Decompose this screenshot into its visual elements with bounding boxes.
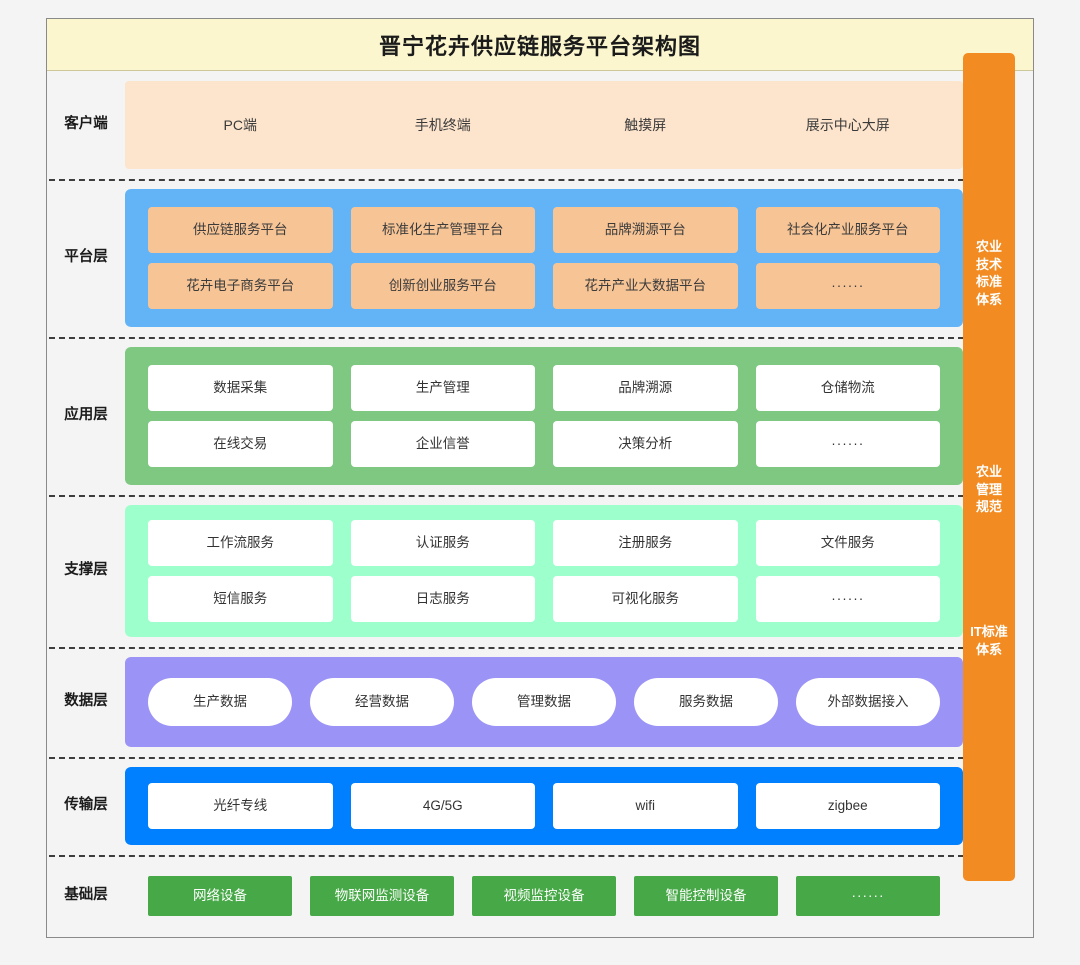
- layer-item-app-0-2[interactable]: 品牌溯源: [553, 365, 738, 411]
- layer-item-platform-1-2[interactable]: 花卉产业大数据平台: [553, 263, 738, 309]
- layer-item-data-0-1[interactable]: 经营数据: [310, 678, 454, 726]
- layer-panel-platform: 供应链服务平台标准化生产管理平台品牌溯源平台社会化产业服务平台花卉电子商务平台创…: [125, 189, 963, 327]
- layer-item-data-0-4[interactable]: 外部数据接入: [796, 678, 940, 726]
- page-title: 晋宁花卉供应链服务平台架构图: [379, 29, 701, 61]
- layer-item-transmit-0-0[interactable]: 光纤专线: [148, 783, 333, 829]
- layer-panel-transmit: 光纤专线4G/5Gwifizigbee: [125, 767, 963, 845]
- layer-label-app: 应用层: [47, 407, 125, 424]
- layer-row-platform: 平台层供应链服务平台标准化生产管理平台品牌溯源平台社会化产业服务平台花卉电子商务…: [47, 179, 1033, 337]
- layer-item-row: 供应链服务平台标准化生产管理平台品牌溯源平台社会化产业服务平台: [125, 207, 963, 253]
- layer-item-row: PC端手机终端触摸屏展示中心大屏: [125, 115, 963, 135]
- layer-item-row: 生产数据经营数据管理数据服务数据外部数据接入: [125, 678, 963, 726]
- layer-label-base: 基础层: [47, 887, 125, 904]
- layer-row-app: 应用层数据采集生产管理品牌溯源仓储物流在线交易企业信誉决策分析······: [47, 337, 1033, 495]
- layer-item-base-0-0[interactable]: 网络设备: [148, 876, 292, 916]
- layer-item-row: 工作流服务认证服务注册服务文件服务: [125, 520, 963, 566]
- layer-label-client: 客户端: [47, 116, 125, 133]
- layer-item-platform-1-0[interactable]: 花卉电子商务平台: [148, 263, 333, 309]
- diagram-canvas: 晋宁花卉供应链服务平台架构图 客户端PC端手机终端触摸屏展示中心大屏平台层供应链…: [0, 0, 1080, 965]
- layer-item-app-1-0[interactable]: 在线交易: [148, 421, 333, 467]
- standards-item-agri-tech: 农业技术标准体系: [963, 238, 1015, 308]
- layer-item-row: 花卉电子商务平台创新创业服务平台花卉产业大数据平台······: [125, 263, 963, 309]
- layer-item-data-0-3[interactable]: 服务数据: [634, 678, 778, 726]
- layer-item-support-0-0[interactable]: 工作流服务: [148, 520, 333, 566]
- layer-item-platform-0-0[interactable]: 供应链服务平台: [148, 207, 333, 253]
- layer-row-transmit: 传输层光纤专线4G/5Gwifizigbee: [47, 757, 1033, 855]
- layer-rows-container: 客户端PC端手机终端触摸屏展示中心大屏平台层供应链服务平台标准化生产管理平台品牌…: [47, 71, 1033, 937]
- layer-item-transmit-0-3[interactable]: zigbee: [756, 783, 941, 829]
- layer-panel-base: 网络设备物联网监测设备视频监控设备智能控制设备······: [125, 865, 963, 927]
- layer-item-support-0-1[interactable]: 认证服务: [351, 520, 536, 566]
- layer-item-app-0-1[interactable]: 生产管理: [351, 365, 536, 411]
- layer-panel-app: 数据采集生产管理品牌溯源仓储物流在线交易企业信誉决策分析······: [125, 347, 963, 485]
- layer-item-support-0-3[interactable]: 文件服务: [756, 520, 941, 566]
- layer-label-data: 数据层: [47, 693, 125, 710]
- layer-panel-client: PC端手机终端触摸屏展示中心大屏: [125, 81, 963, 169]
- layer-item-data-0-2[interactable]: 管理数据: [472, 678, 616, 726]
- layer-item-ellipsis[interactable]: ······: [756, 576, 941, 622]
- standards-item-agri-mgmt: 农业管理规范: [963, 463, 1015, 516]
- layer-body-transmit: 光纤专线4G/5Gwifizigbee: [125, 767, 963, 845]
- diagram-frame: 晋宁花卉供应链服务平台架构图 客户端PC端手机终端触摸屏展示中心大屏平台层供应链…: [46, 18, 1034, 938]
- layer-row-support: 支撑层工作流服务认证服务注册服务文件服务短信服务日志服务可视化服务······: [47, 495, 1033, 647]
- layer-item-ellipsis[interactable]: ······: [756, 421, 941, 467]
- layer-body-app: 数据采集生产管理品牌溯源仓储物流在线交易企业信誉决策分析······: [125, 347, 963, 485]
- layer-item-platform-0-2[interactable]: 品牌溯源平台: [553, 207, 738, 253]
- layer-body-data: 生产数据经营数据管理数据服务数据外部数据接入: [125, 657, 963, 747]
- layer-item-support-1-0[interactable]: 短信服务: [148, 576, 333, 622]
- layer-item-client-0-1[interactable]: 手机终端: [342, 115, 545, 135]
- layer-row-data: 数据层生产数据经营数据管理数据服务数据外部数据接入: [47, 647, 1033, 757]
- layer-body-platform: 供应链服务平台标准化生产管理平台品牌溯源平台社会化产业服务平台花卉电子商务平台创…: [125, 189, 963, 327]
- layer-item-base-0-1[interactable]: 物联网监测设备: [310, 876, 454, 916]
- layer-label-support: 支撑层: [47, 562, 125, 579]
- diagram-title-bar: 晋宁花卉供应链服务平台架构图: [47, 19, 1033, 71]
- layer-item-app-1-1[interactable]: 企业信誉: [351, 421, 536, 467]
- layer-item-transmit-0-2[interactable]: wifi: [553, 783, 738, 829]
- layer-item-platform-1-1[interactable]: 创新创业服务平台: [351, 263, 536, 309]
- layer-item-support-0-2[interactable]: 注册服务: [553, 520, 738, 566]
- layer-item-app-0-0[interactable]: 数据采集: [148, 365, 333, 411]
- layer-item-base-0-2[interactable]: 视频监控设备: [472, 876, 616, 916]
- layer-label-platform: 平台层: [47, 249, 125, 266]
- layer-body-base: 网络设备物联网监测设备视频监控设备智能控制设备······: [125, 865, 963, 927]
- layer-item-app-0-3[interactable]: 仓储物流: [756, 365, 941, 411]
- layer-item-client-0-2[interactable]: 触摸屏: [544, 115, 747, 135]
- layer-item-ellipsis[interactable]: ······: [796, 876, 940, 916]
- layer-body-support: 工作流服务认证服务注册服务文件服务短信服务日志服务可视化服务······: [125, 505, 963, 637]
- layer-item-base-0-3[interactable]: 智能控制设备: [634, 876, 778, 916]
- standards-sidebar: 农业技术标准体系 农业管理规范 IT标准体系: [963, 53, 1015, 881]
- layer-item-ellipsis[interactable]: ······: [756, 263, 941, 309]
- layer-item-row: 数据采集生产管理品牌溯源仓储物流: [125, 365, 963, 411]
- layer-item-transmit-0-1[interactable]: 4G/5G: [351, 783, 536, 829]
- layer-item-data-0-0[interactable]: 生产数据: [148, 678, 292, 726]
- layer-item-support-1-1[interactable]: 日志服务: [351, 576, 536, 622]
- layer-item-client-0-3[interactable]: 展示中心大屏: [747, 115, 950, 135]
- layer-item-row: 在线交易企业信誉决策分析······: [125, 421, 963, 467]
- layer-item-row: 短信服务日志服务可视化服务······: [125, 576, 963, 622]
- layer-item-client-0-0[interactable]: PC端: [139, 115, 342, 135]
- layer-body-client: PC端手机终端触摸屏展示中心大屏: [125, 81, 963, 169]
- layer-item-platform-0-1[interactable]: 标准化生产管理平台: [351, 207, 536, 253]
- layer-row-client: 客户端PC端手机终端触摸屏展示中心大屏: [47, 71, 1033, 179]
- layer-panel-data: 生产数据经营数据管理数据服务数据外部数据接入: [125, 657, 963, 747]
- layer-row-base: 基础层网络设备物联网监测设备视频监控设备智能控制设备······: [47, 855, 1033, 937]
- layer-panel-support: 工作流服务认证服务注册服务文件服务短信服务日志服务可视化服务······: [125, 505, 963, 637]
- layer-item-row: 网络设备物联网监测设备视频监控设备智能控制设备······: [125, 876, 963, 916]
- layer-item-row: 光纤专线4G/5Gwifizigbee: [125, 783, 963, 829]
- standards-item-it-standard: IT标准体系: [963, 623, 1015, 658]
- layer-item-platform-0-3[interactable]: 社会化产业服务平台: [756, 207, 941, 253]
- layer-label-transmit: 传输层: [47, 797, 125, 814]
- layer-item-app-1-2[interactable]: 决策分析: [553, 421, 738, 467]
- layer-item-support-1-2[interactable]: 可视化服务: [553, 576, 738, 622]
